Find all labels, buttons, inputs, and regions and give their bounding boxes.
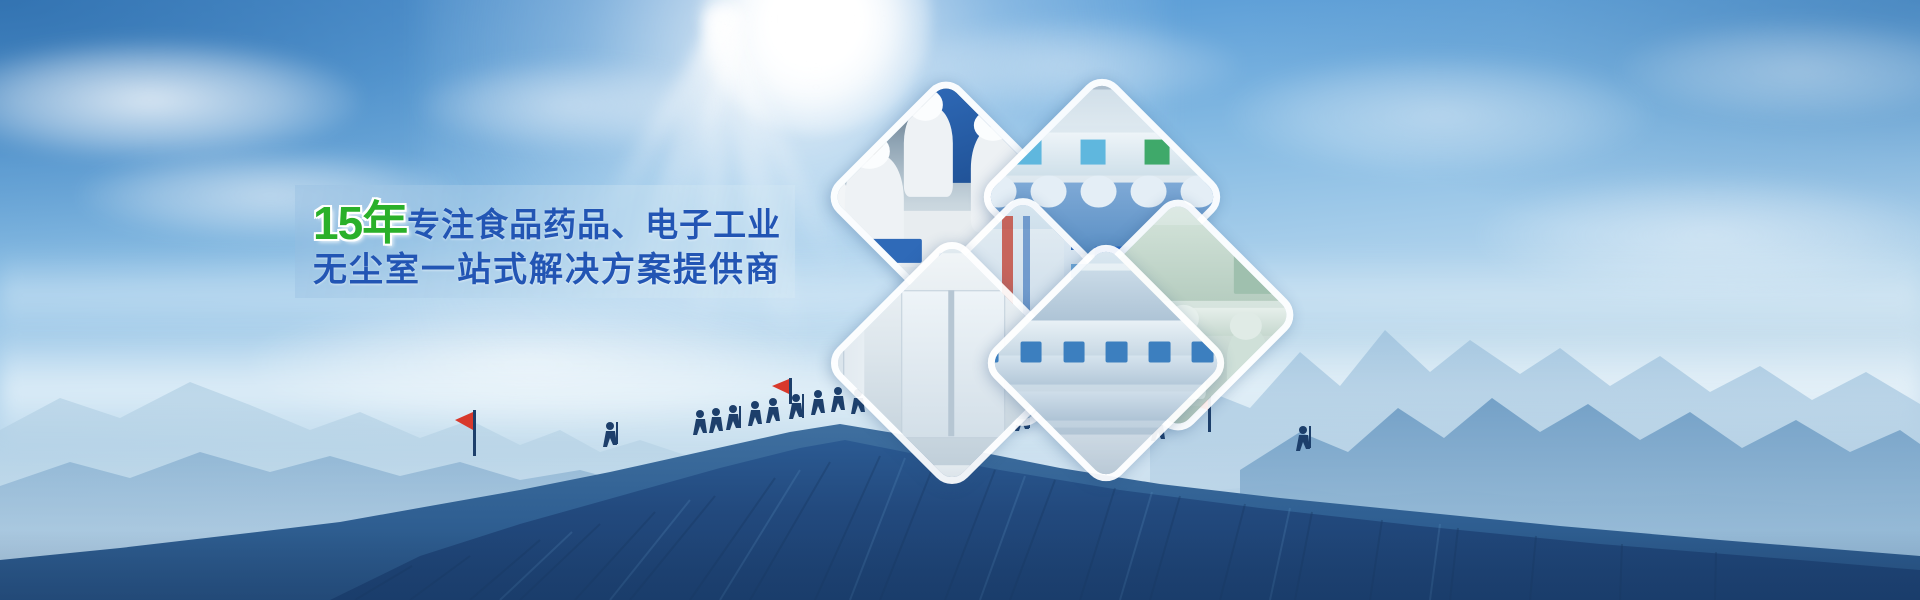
climber-silhouette xyxy=(726,405,741,430)
climber-silhouette xyxy=(1296,426,1311,451)
climber-silhouette xyxy=(693,410,707,435)
climber-silhouette xyxy=(603,422,618,447)
years-badge: 15年 xyxy=(313,197,407,249)
bottom-vignette xyxy=(0,530,1920,600)
climber-silhouette xyxy=(709,408,723,433)
climber-silhouette xyxy=(811,390,825,415)
diamond-photo-collage xyxy=(840,85,1280,475)
headline-line-2-text: 无尘室一站式解决方案提供商 xyxy=(313,250,781,290)
climber-silhouette xyxy=(748,401,762,426)
climber-silhouette xyxy=(766,398,780,423)
flag-left xyxy=(455,410,476,456)
headline-line-1-text: 专注食品药品、电子工业 xyxy=(407,205,781,244)
hero-banner: 15年专注食品药品、电子工业 无尘室一站式解决方案提供商 xyxy=(0,0,1920,600)
